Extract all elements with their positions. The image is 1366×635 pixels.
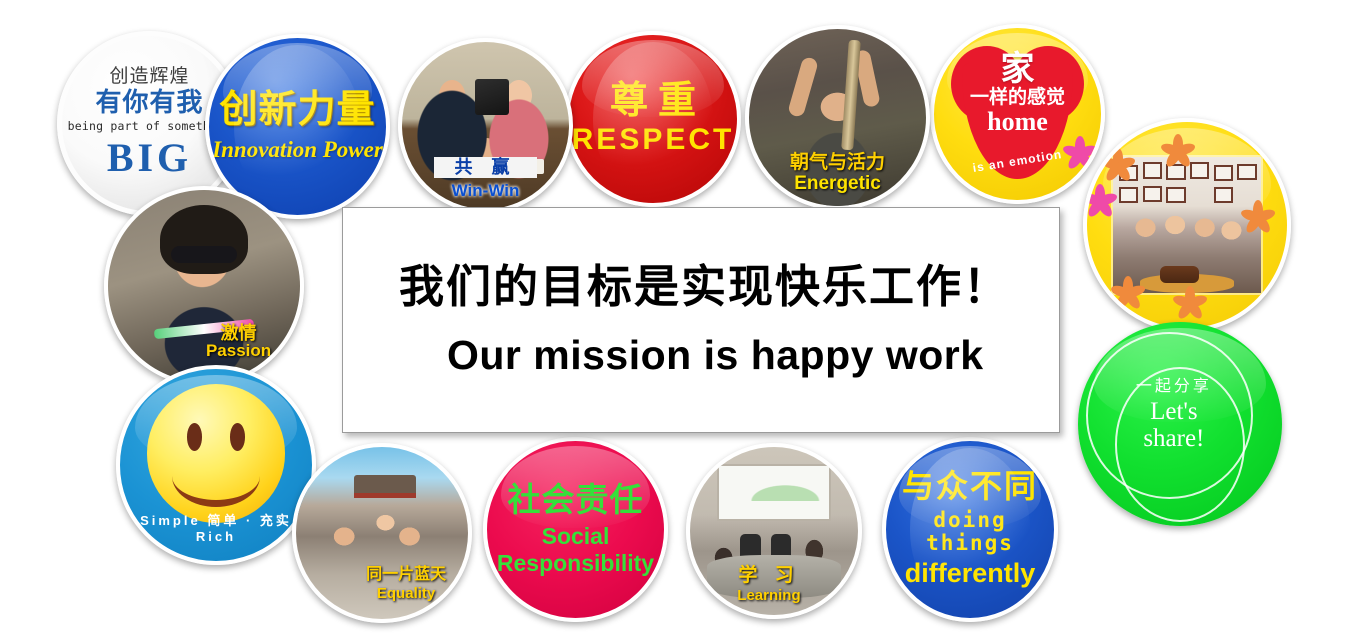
badge-win-win[interactable]: 共 赢 Win-Win <box>398 38 573 213</box>
badge-different-en1: doing things <box>886 509 1054 555</box>
badge-different-en2: differently <box>905 559 1036 589</box>
badge-learning-cn: 学 习 <box>710 566 828 586</box>
badge-winwin-en: Win-Win <box>402 182 569 201</box>
smiley-face-icon <box>147 384 285 522</box>
badge-big-line1: 创造辉煌 <box>109 67 189 87</box>
badge-big-line2: 有你有我 <box>95 89 203 116</box>
badge-equality-cn: 同一片蓝天 <box>348 567 465 584</box>
values-badge-collage: 创造辉煌 有你有我 being part of something BIG 创新… <box>0 0 1366 635</box>
badge-different-cn: 与众不同 <box>902 470 1038 504</box>
badge-passion[interactable]: 激情 Passion <box>104 186 304 386</box>
badge-innovation-en: Innovation Power <box>212 137 383 162</box>
flower-icon <box>1173 286 1207 320</box>
badge-team-photo[interactable] <box>1083 118 1291 332</box>
badge-winwin-cn: 共 赢 <box>434 157 538 178</box>
badge-equality[interactable]: 同一片蓝天 Equality <box>292 443 472 623</box>
badge-equality-en: Equality <box>348 586 465 603</box>
badge-share-cn: 一起分享 <box>1111 379 1237 396</box>
flower-icon <box>1161 134 1195 168</box>
mission-statement-cn: 我们的目标是实现快乐工作！ <box>399 261 1059 313</box>
flower-icon <box>1063 136 1097 170</box>
badge-social-en1: Social <box>542 524 610 549</box>
badge-passion-en: Passion <box>177 342 300 361</box>
badge-home-is-an-emotion[interactable]: 家 一样的感觉 home is an emotion <box>930 24 1105 204</box>
badge-doing-things-differently[interactable]: 与众不同 doing things differently <box>882 437 1058 622</box>
badge-smile-caption: Simple 简单 · 充实 Rich <box>120 510 312 544</box>
badge-social-en2: Responsibility <box>497 551 654 576</box>
badge-big-line4: BIG <box>107 136 192 180</box>
badge-learning[interactable]: 学 习 Learning <box>686 443 862 619</box>
badge-respect[interactable]: 尊重 RESPECT <box>565 31 741 207</box>
badge-energetic-en: Energetic <box>749 174 926 195</box>
badge-share-en2: share! <box>1111 425 1237 453</box>
badge-lets-share[interactable]: 一起分享 Let's share! <box>1078 322 1282 526</box>
mission-statement-en: Our mission is happy work <box>447 332 1059 379</box>
badge-share-en1: Let's <box>1111 398 1237 426</box>
flower-icon <box>1083 184 1117 218</box>
badge-learning-en: Learning <box>710 588 828 605</box>
badge-innovation-cn: 创新力量 <box>219 91 375 131</box>
flower-icon <box>1101 148 1135 182</box>
badge-social-responsibility[interactable]: 社会责任 Social Responsibility <box>483 437 668 622</box>
mission-banner: 我们的目标是实现快乐工作！ Our mission is happy work <box>342 207 1060 433</box>
badge-home-en: home <box>934 108 1101 137</box>
badge-respect-en: RESPECT <box>572 123 735 156</box>
team-birthday-group-photo <box>1113 157 1261 293</box>
badge-energetic[interactable]: 朝气与活力 Energetic <box>745 25 930 210</box>
badge-home-cn2: 一样的感觉 <box>934 88 1101 108</box>
badge-respect-cn: 尊重 <box>600 82 706 122</box>
badge-social-cn: 社会责任 <box>508 483 644 518</box>
flower-icon <box>1111 276 1145 310</box>
badge-home-cn1: 家 <box>934 52 1101 86</box>
badge-energetic-cn: 朝气与活力 <box>749 153 926 173</box>
flower-icon <box>1241 200 1275 234</box>
badge-simple-rich-smiley[interactable]: Simple 简单 · 充实 Rich <box>116 365 316 565</box>
